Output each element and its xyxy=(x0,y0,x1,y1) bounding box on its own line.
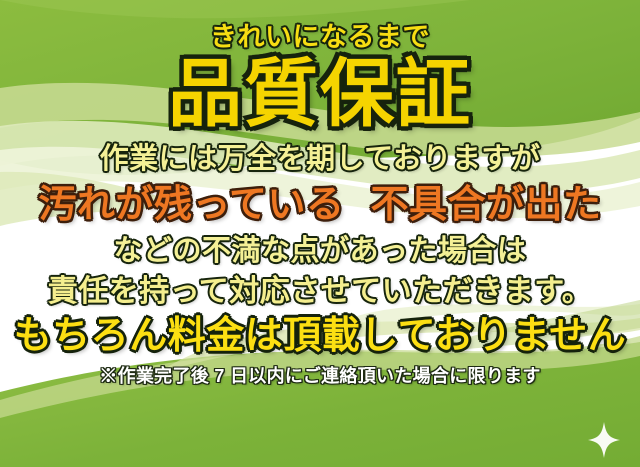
body-line-4: もちろん料金は頂載しておりません xyxy=(0,317,640,355)
highlight-phrase-2: 不具合が出た xyxy=(371,184,602,226)
highlight-phrase-1: 汚れが残っている xyxy=(38,184,344,226)
headline-main: 品質保証 xyxy=(0,57,640,131)
body-line-2: などの不満な点があった場合は xyxy=(0,237,640,266)
body-line-3: 責任を持って対応させていただきます。 xyxy=(0,277,640,307)
headline-small: きれいになるまで xyxy=(0,24,640,51)
body-line-1: 作業には万全を期しておりますが xyxy=(0,145,640,174)
highlight-row: 汚れが残っている不具合が出た xyxy=(0,186,640,224)
quality-guarantee-poster: きれいになるまで 品質保証 作業には万全を期しておりますが 汚れが残っている不具… xyxy=(0,0,640,467)
poster-text-content: きれいになるまで 品質保証 作業には万全を期しておりますが 汚れが残っている不具… xyxy=(0,0,640,467)
footnote: ※作業完了後 7 日以内にご連絡頂いた場合に限ります xyxy=(0,367,640,385)
